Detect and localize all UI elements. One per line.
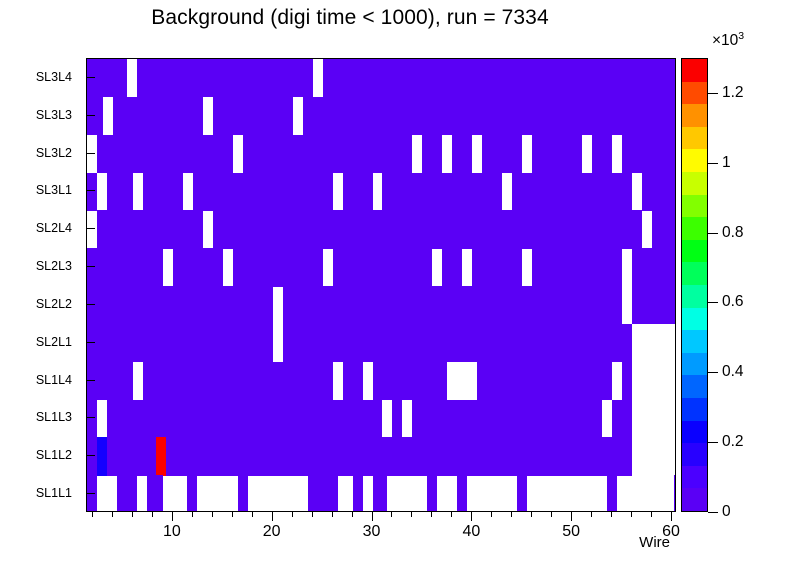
x-axis-minor-tick [252,512,253,517]
x-axis-minor-tick [312,512,313,517]
heatmap-cell [674,475,676,512]
x-axis-minor-tick [591,512,592,517]
heatmap-cell [532,135,582,173]
heatmap-cell [97,437,107,475]
heatmap-cell [517,475,527,512]
z-axis-tick [708,163,718,164]
heatmap-cell [143,362,333,400]
z-axis-ticks-labels: 00.20.40.60.811.2 [681,58,796,512]
heatmap-cell [482,135,522,173]
heatmap-cell [512,173,632,211]
heatmap-cell [632,286,676,324]
heatmap-cell [452,135,472,173]
y-axis-tick [86,115,95,116]
heatmap-cell [373,362,448,400]
y-axis-label-sl2l1: SL2L1 [36,335,72,349]
heatmap-cell [173,248,223,286]
z-axis-tick-label: 0.2 [722,433,744,451]
y-axis-label-sl1l3: SL1L3 [36,410,72,424]
heatmap-cell [107,173,133,211]
heatmap-cell [412,400,602,438]
heatmap-cell [107,437,156,475]
z-exponent-base: ×10 [712,32,738,49]
y-axis-label-sl2l3: SL2L3 [36,259,72,273]
x-axis-minor-tick [332,512,333,517]
heatmap-cell [592,135,612,173]
z-axis-tick [708,233,718,234]
x-axis-minor-tick [491,512,492,517]
z-axis-exponent: ×103 [712,30,744,50]
heatmap-cell [632,248,676,286]
z-axis-tick [708,302,718,303]
y-axis-tick [86,77,95,78]
heatmap-cell [87,437,97,475]
heatmap-cell [187,475,197,512]
x-axis-minor-tick [651,512,652,517]
y-axis-tick [86,153,95,154]
y-axis-label-sl2l2: SL2L2 [36,297,72,311]
heatmap-cell [477,362,612,400]
heatmap-cell [642,173,676,211]
heatmap-cell [137,59,313,97]
z-axis-tick-label: 0.6 [722,293,744,311]
z-axis-tick-label: 0.4 [722,363,744,381]
chart-title: Background (digi time < 1000), run = 733… [0,6,700,30]
x-axis-major-tick [571,512,572,521]
x-axis-minor-tick [411,512,412,517]
x-axis-major-tick [172,512,173,521]
heatmap-cell [532,248,622,286]
x-axis-minor-tick [212,512,213,517]
heatmap-cell [87,286,273,324]
z-axis-tick [708,512,718,513]
heatmap-cell [87,173,97,211]
x-axis-major-tick [471,512,472,521]
heatmap-cell [233,248,323,286]
z-axis-tick [708,93,718,94]
y-axis-tick [86,417,95,418]
x-axis-minor-tick [551,512,552,517]
x-axis-minor-tick [352,512,353,517]
z-axis-tick-label: 0 [722,503,731,521]
y-axis-label-sl1l2: SL1L2 [36,448,72,462]
heatmap-cell [147,475,163,512]
y-axis-tick [86,455,95,456]
y-axis-tick [86,228,95,229]
heatmap-plot-area[interactable] [86,58,676,512]
x-axis-major-tick [372,512,373,521]
heatmap-cell [213,97,293,135]
heatmap-cell [117,475,137,512]
heatmap-cells [87,59,675,511]
heatmap-cell [442,248,462,286]
heatmap-cell [612,400,632,438]
heatmap-cell [353,475,363,512]
y-axis-tick [86,190,95,191]
z-axis-tick-label: 1 [722,154,731,172]
y-axis-labels: SL1L1SL1L2SL1L3SL1L4SL2L1SL2L2SL2L3SL2L4… [0,58,82,512]
y-axis-label-sl2l4: SL2L4 [36,221,72,235]
heatmap-cell [457,475,467,512]
x-axis-minor-tick [112,512,113,517]
heatmap-cell [166,437,632,475]
z-axis-tick [708,372,718,373]
heatmap-cell [143,173,183,211]
heatmap-cell [652,210,676,248]
x-axis-minor-tick [192,512,193,517]
heatmap-cell [343,362,363,400]
heatmap-cell [283,286,622,324]
heatmap-cell [323,59,676,97]
x-axis-minor-tick [391,512,392,517]
heatmap-cell [333,248,433,286]
heatmap-cell [97,210,203,248]
heatmap-cell [107,400,383,438]
y-axis-label-sl3l3: SL3L3 [36,108,72,122]
y-axis-tick [86,342,95,343]
x-axis-minor-tick [531,512,532,517]
heatmap-cell [392,400,402,438]
y-axis-label-sl1l1: SL1L1 [36,486,72,500]
x-axis-major-tick [671,512,672,521]
heatmap-cell [283,324,632,362]
y-axis-tick [86,266,95,267]
y-axis-label-sl3l1: SL3L1 [36,183,72,197]
x-axis-title: Wire [0,534,676,551]
z-axis-tick-label: 1.2 [722,84,744,102]
heatmap-cell [87,324,273,362]
heatmap-cell [156,437,166,475]
y-axis-label-sl3l2: SL3L2 [36,146,72,160]
heatmap-cell [472,248,522,286]
y-axis-tick [86,380,95,381]
x-axis-minor-tick [431,512,432,517]
heatmap-cell [243,135,413,173]
heatmap-cell [373,475,388,512]
heatmap-cell [193,173,333,211]
heatmap-cell [87,400,97,438]
x-axis-major-tick [272,512,273,521]
y-axis-label-sl1l4: SL1L4 [36,373,72,387]
x-axis-minor-tick [611,512,612,517]
heatmap-cell [87,97,103,135]
heatmap-cell [622,135,676,173]
heatmap-cell [97,135,233,173]
x-axis-minor-tick [631,512,632,517]
x-axis-minor-tick [451,512,452,517]
heatmap-cell [343,173,373,211]
heatmap-cell [238,475,248,512]
x-axis-minor-tick [292,512,293,517]
heatmap-cell [607,475,617,512]
x-axis-minor-tick [152,512,153,517]
x-axis-minor-tick [232,512,233,517]
heatmap-cell [422,135,442,173]
plot-canvas: Background (digi time < 1000), run = 733… [0,0,796,572]
heatmap-cell [113,97,203,135]
z-axis-tick-label: 0.8 [722,224,744,242]
z-axis-tick [708,442,718,443]
y-axis-tick [86,304,95,305]
y-axis-label-sl3l4: SL3L4 [36,70,72,84]
heatmap-cell [427,475,437,512]
heatmap-cell [87,362,133,400]
x-axis-minor-tick [92,512,93,517]
heatmap-cell [87,59,127,97]
heatmap-cell [622,362,632,400]
heatmap-cell [213,210,642,248]
y-axis-tick [86,493,95,494]
x-axis-minor-tick [511,512,512,517]
heatmap-cell [382,173,502,211]
z-exponent-power: 3 [738,30,744,42]
x-axis-minor-tick [132,512,133,517]
heatmap-cell [303,97,676,135]
heatmap-cell [308,475,338,512]
heatmap-cell [87,248,163,286]
